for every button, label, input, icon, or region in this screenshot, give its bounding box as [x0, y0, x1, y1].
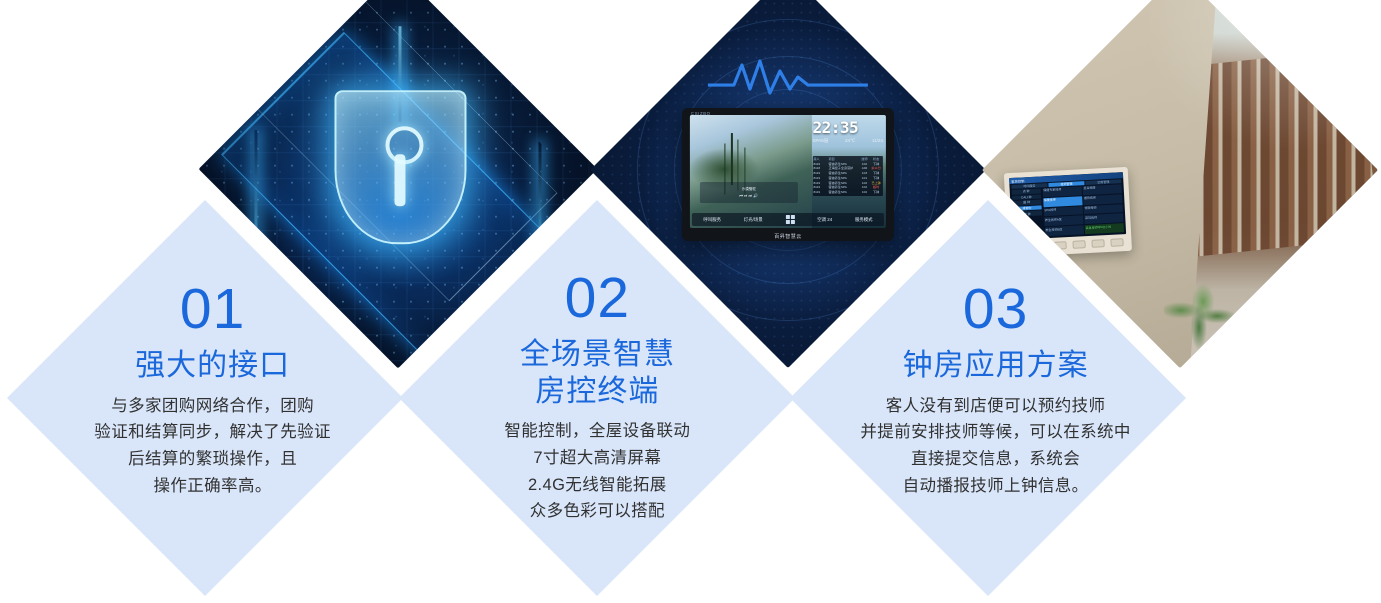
- service-table: 房人 项目 技师 状态 8119容迪养生SPA102下钟8118正海经子全身富护…: [812, 156, 883, 196]
- cell-tech: 102: [859, 190, 871, 195]
- card-03-title: 钟房应用方案: [793, 348, 1186, 385]
- promo-banner: CSIZBO 22:35 SPA6层 24℃ 11/24: [0, 0, 1381, 603]
- player-track-title: 沙漠骆驼: [742, 187, 756, 192]
- clock-meta: SPA6层 24℃ 11/24: [812, 138, 883, 144]
- table-body: 8119容迪养生SPA102下钟8118正海经子全身富护A02余11分8119容…: [813, 162, 882, 195]
- card-02-description: 智能控制，全屋设备联动 7寸超大高清屏幕 2.4G无线智能拓展 众多色彩可以搭配: [409, 418, 785, 525]
- tablet-device: CSIZBO 22:35 SPA6层 24℃ 11/24: [682, 108, 894, 241]
- cell-item: 容迪养生SPA: [829, 190, 859, 195]
- date-label: 11/24: [872, 138, 883, 144]
- table-row: 8119容迪养生SPA102下钟: [813, 190, 882, 195]
- bar-call-service[interactable]: 呼叫服务: [703, 217, 721, 223]
- bar-lighting-scene[interactable]: 灯光/场景: [744, 217, 763, 223]
- wallpaper-landscape: [690, 115, 812, 228]
- bar-aircon[interactable]: 空调 24: [817, 217, 832, 223]
- player-controls[interactable]: ⏮ ⏯ ⏭ 🔊: [739, 193, 758, 198]
- card-02-title: 全场景智慧 房控终端: [409, 337, 785, 410]
- card-01-title: 强大的接口: [25, 348, 401, 385]
- bar-service-mode[interactable]: 服务模式: [855, 217, 873, 223]
- heartbeat-icon: [708, 55, 868, 99]
- clock-time: 22:35: [812, 120, 883, 136]
- tablet-brand-bottom: 百昇智慧云: [774, 233, 802, 240]
- cell-status: 下钟: [870, 190, 882, 195]
- music-player-widget[interactable]: 沙漠骆驼 ⏮ ⏯ ⏭ 🔊: [700, 182, 798, 203]
- tree-icon: [731, 133, 733, 185]
- tablet-screen[interactable]: 22:35 SPA6层 24℃ 11/24 房人 项目 技师 状态: [690, 115, 886, 228]
- clock-widget: 22:35 SPA6层 24℃ 11/24: [812, 120, 883, 144]
- card-01-description: 与多家团购网络合作，团购 验证和结算同步，解决了先验证 后结算的繁琐操作，且 操…: [25, 393, 401, 500]
- weather-label: 24℃: [845, 138, 855, 144]
- floor-label: SPA6层: [812, 138, 828, 144]
- card-03-description: 客人没有到店便可以预约技师 并提前安排技师等候，可以在系统中 直接提交信息，系统…: [793, 393, 1186, 500]
- tablet-bottom-bar[interactable]: 呼叫服务 灯光/场景 空调 24 服务模式: [692, 213, 884, 226]
- cell-room: 8119: [813, 190, 828, 195]
- apps-grid-icon[interactable]: [785, 215, 794, 224]
